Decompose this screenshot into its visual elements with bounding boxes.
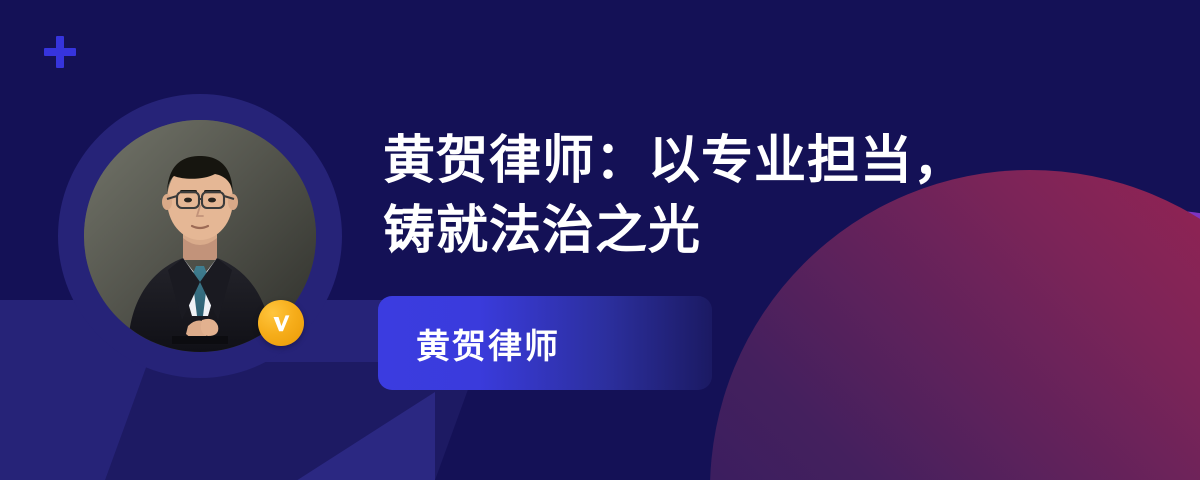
lawyer-name-button[interactable]: 黄贺律师 [378,296,712,390]
promo-banner: 黄贺律师：以专业担当， 铸就法治之光 黄贺律师 [0,0,1200,480]
triangle-wedge-decoration [185,392,445,480]
page-title: 黄贺律师：以专业担当， 铸就法治之光 [383,126,1083,266]
verified-badge [258,300,304,346]
plus-icon [44,36,76,68]
avatar [58,94,342,378]
